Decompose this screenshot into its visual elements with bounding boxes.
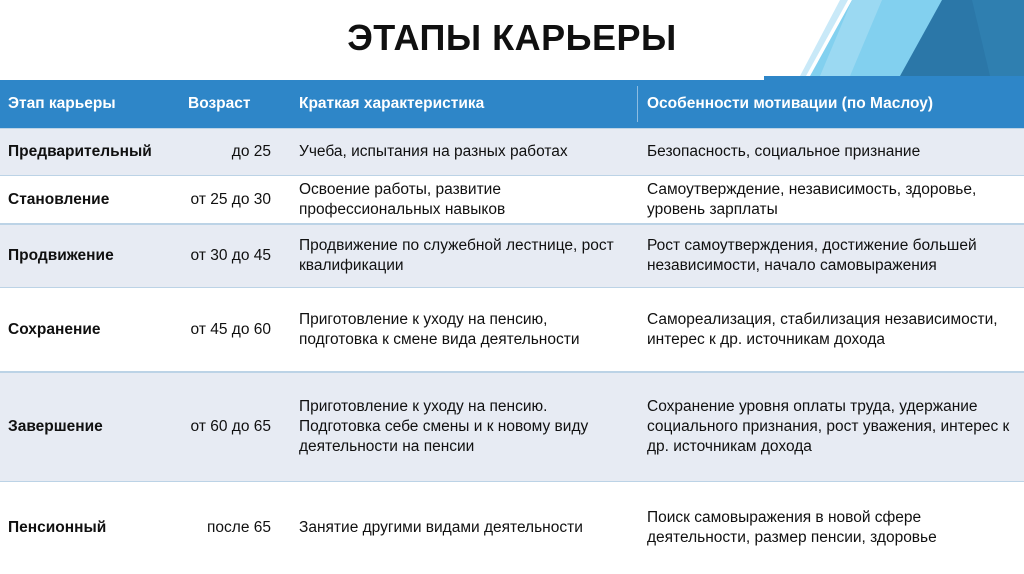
table-row: Завершение от 60 до 65 Приготовление к у…	[0, 372, 1024, 482]
title-container: ЭТАПЫ КАРЬЕРЫ	[0, 0, 1024, 80]
table-row: Пенсионный после 65 Занятие другими вида…	[0, 482, 1024, 574]
cell-age: после 65	[170, 518, 285, 538]
cell-stage: Становление	[0, 190, 170, 210]
column-header-description: Краткая характеристика	[285, 94, 633, 114]
column-header-stage: Этап карьеры	[0, 94, 170, 114]
cell-motivation: Самоутверждение, независимость, здоровье…	[633, 180, 1024, 220]
cell-description: Учеба, испытания на разных работах	[285, 142, 633, 162]
cell-description: Освоение работы, развитие профессиональн…	[285, 180, 633, 220]
cell-motivation: Самореализация, стабилизация независимос…	[633, 310, 1024, 350]
page-title: ЭТАПЫ КАРЬЕРЫ	[347, 20, 677, 60]
cell-description: Приготовление к уходу на пенсию, подгото…	[285, 310, 633, 350]
cell-motivation: Сохранение уровня оплаты труда, удержани…	[633, 397, 1024, 456]
cell-stage: Продвижение	[0, 246, 170, 266]
career-stages-table: Этап карьеры Возраст Краткая характерист…	[0, 80, 1024, 574]
cell-motivation: Поиск самовыражения в новой сфере деятел…	[633, 508, 1024, 548]
cell-stage: Сохранение	[0, 320, 170, 340]
cell-age: от 25 до 30	[170, 190, 285, 210]
cell-stage: Пенсионный	[0, 518, 170, 538]
cell-description: Продвижение по служебной лестнице, рост …	[285, 236, 633, 276]
cell-motivation: Рост самоутверждения, достижение большей…	[633, 236, 1024, 276]
cell-age: от 45 до 60	[170, 320, 285, 340]
table-row: Становление от 25 до 30 Освоение работы,…	[0, 176, 1024, 224]
slide-canvas: ЭТАПЫ КАРЬЕРЫ Этап карьеры Возраст Кратк…	[0, 0, 1024, 574]
table-row: Сохранение от 45 до 60 Приготовление к у…	[0, 288, 1024, 372]
cell-description: Занятие другими видами деятельности	[285, 518, 633, 538]
cell-stage: Предварительный	[0, 142, 170, 162]
table-row: Продвижение от 30 до 45 Продвижение по с…	[0, 224, 1024, 288]
cell-motivation: Безопасность, социальное признание	[633, 142, 1024, 162]
cell-age: до 25	[170, 142, 285, 162]
column-header-age: Возраст	[170, 94, 285, 114]
cell-age: от 60 до 65	[170, 417, 285, 437]
cell-description: Приготовление к уходу на пенсию. Подгото…	[285, 397, 633, 456]
table-row: Предварительный до 25 Учеба, испытания н…	[0, 128, 1024, 176]
cell-age: от 30 до 45	[170, 246, 285, 266]
cell-stage: Завершение	[0, 417, 170, 437]
column-header-motivation: Особенности мотивации (по Маслоу)	[633, 94, 1024, 114]
header-column-divider	[637, 86, 638, 122]
table-header-row: Этап карьеры Возраст Краткая характерист…	[0, 80, 1024, 128]
